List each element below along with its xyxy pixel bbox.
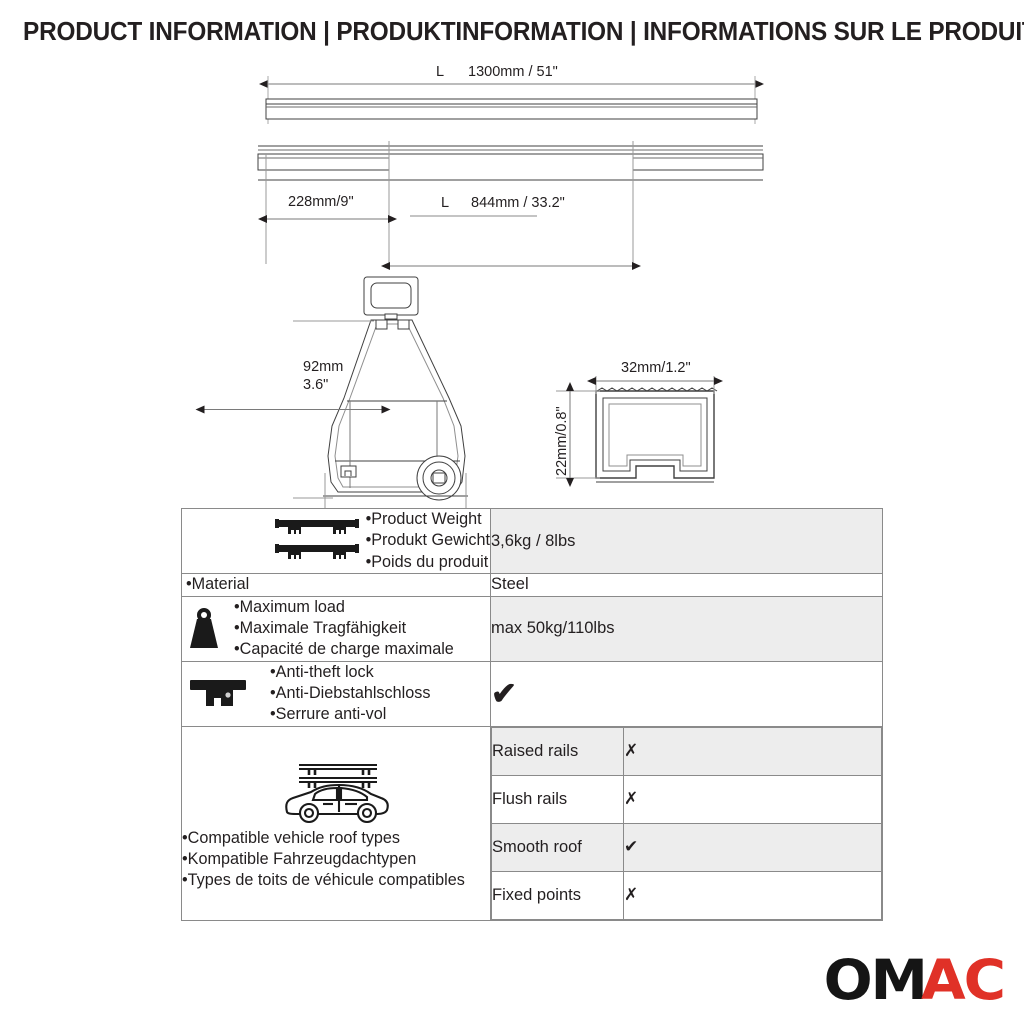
car-with-roofrack-icon — [277, 756, 395, 824]
bullet-de: •Kompatible Fahrzeugdachtypen — [182, 850, 416, 868]
maximum-load-bullets: •Maximum load •Maximale Tragfähigkeit •C… — [234, 597, 454, 661]
bullet-de: •Anti-Diebstahlschloss — [270, 684, 430, 702]
cross-icon: ✗ — [624, 789, 638, 809]
logo-text-ac: AC — [921, 953, 1004, 1008]
roof-type-mark: ✔ — [624, 823, 882, 871]
label-cell-maximum-load: •Maximum load •Maximale Tragfähigkeit •C… — [182, 596, 491, 661]
table-row-compatible-roof-types: •Compatible vehicle roof types •Kompatib… — [182, 726, 883, 920]
dim-span-between-feet: 844mm / 33.2" — [471, 195, 565, 211]
material-bullets: •Material — [186, 574, 249, 595]
anti-theft-lock-bullets: •Anti-theft lock •Anti-Diebstahlschloss … — [270, 662, 430, 726]
page-title: PRODUCT INFORMATION | PRODUKTINFORMATION… — [23, 18, 1001, 47]
dim-bar-length: 1300mm / 51" — [468, 64, 558, 80]
bullet-fr: •Types de toits de véhicule compatibles — [182, 871, 465, 889]
dim-foot-height-mm: 92mm — [303, 359, 343, 375]
table-row-material: •Material Steel — [182, 574, 883, 596]
weight-icon — [182, 606, 226, 652]
table-row-anti-theft-lock: •Anti-theft lock •Anti-Diebstahlschloss … — [182, 661, 883, 726]
dim-foot-offset: 228mm/9" — [288, 194, 354, 210]
bullet-en: •Compatible vehicle roof types — [182, 829, 400, 847]
roof-type-name: Smooth roof — [492, 823, 624, 871]
technical-drawing: L 1300mm / 51" — [0, 58, 1024, 508]
bullet-fr: •Poids du produit — [366, 553, 489, 571]
label-cell-anti-theft-lock: •Anti-theft lock •Anti-Diebstahlschloss … — [182, 661, 491, 726]
crossbars-icon — [274, 515, 360, 567]
bullet-fr: •Capacité de charge maximale — [234, 640, 454, 658]
roof-type-name: Raised rails — [492, 727, 624, 775]
roof-type-row-flush-rails: Flush rails ✗ — [492, 775, 882, 823]
roof-types-table: Raised rails ✗ Flush rails ✗ — [491, 727, 882, 920]
bar-cross-section — [596, 388, 717, 482]
roof-type-row-smooth-roof: Smooth roof ✔ — [492, 823, 882, 871]
foot-front-view — [323, 277, 468, 500]
roof-type-mark: ✗ — [624, 775, 882, 823]
bullet-en: •Maximum load — [234, 598, 345, 616]
value-product-weight: 3,6kg / 8lbs — [491, 509, 883, 574]
label-L-1300: L — [436, 64, 444, 80]
roof-type-mark: ✗ — [624, 727, 882, 775]
table-row-maximum-load: •Maximum load •Maximale Tragfähigkeit •C… — [182, 596, 883, 661]
table-row-product-weight: •Product Weight •Produkt Gewicht •Poids … — [182, 509, 883, 574]
roof-type-name: Flush rails — [492, 775, 624, 823]
dim-profile-width: 32mm/1.2" — [621, 360, 691, 376]
roof-type-row-fixed-points: Fixed points ✗ — [492, 871, 882, 919]
product-information-page: PRODUCT INFORMATION | PRODUKTINFORMATION… — [0, 0, 1024, 1024]
label-L-844: L — [441, 195, 449, 211]
label-cell-product-weight: •Product Weight •Produkt Gewicht •Poids … — [182, 509, 491, 574]
check-icon: ✔ — [491, 676, 517, 711]
value-anti-theft-lock: ✔ — [491, 661, 883, 726]
label-cell-compatible-roof-types: •Compatible vehicle roof types •Kompatib… — [182, 726, 491, 920]
bullet-en: •Material — [186, 575, 249, 593]
lock-icon — [188, 674, 250, 714]
cross-icon: ✗ — [624, 741, 638, 761]
bullet-en: •Anti-theft lock — [270, 663, 374, 681]
roof-type-row-raised-rails: Raised rails ✗ — [492, 727, 882, 775]
value-material: Steel — [491, 574, 883, 596]
bullet-en: •Product Weight — [366, 510, 482, 528]
label-cell-material: •Material — [182, 574, 491, 596]
check-icon: ✔ — [624, 837, 638, 857]
roof-type-mark: ✗ — [624, 871, 882, 919]
bullet-fr: •Serrure anti-vol — [270, 705, 386, 723]
bullet-de: •Produkt Gewicht — [366, 531, 490, 549]
omac-logo: OM AC — [826, 953, 1002, 1008]
value-maximum-load: max 50kg/110lbs — [491, 596, 883, 661]
bullet-de: •Maximale Tragfähigkeit — [234, 619, 406, 637]
product-weight-bullets: •Product Weight •Produkt Gewicht •Poids … — [366, 509, 490, 573]
compatible-roof-types-bullets: •Compatible vehicle roof types •Kompatib… — [182, 828, 465, 891]
roof-type-name: Fixed points — [492, 871, 624, 919]
dim-foot-height-in: 3.6" — [303, 377, 328, 393]
cross-icon: ✗ — [624, 885, 638, 905]
logo-text-om: OM — [823, 953, 925, 1008]
dim-profile-height: 22mm/0.8" — [554, 406, 570, 476]
roof-types-subtable-holder: Raised rails ✗ Flush rails ✗ — [491, 726, 883, 920]
specification-table: •Product Weight •Produkt Gewicht •Poids … — [181, 508, 883, 921]
